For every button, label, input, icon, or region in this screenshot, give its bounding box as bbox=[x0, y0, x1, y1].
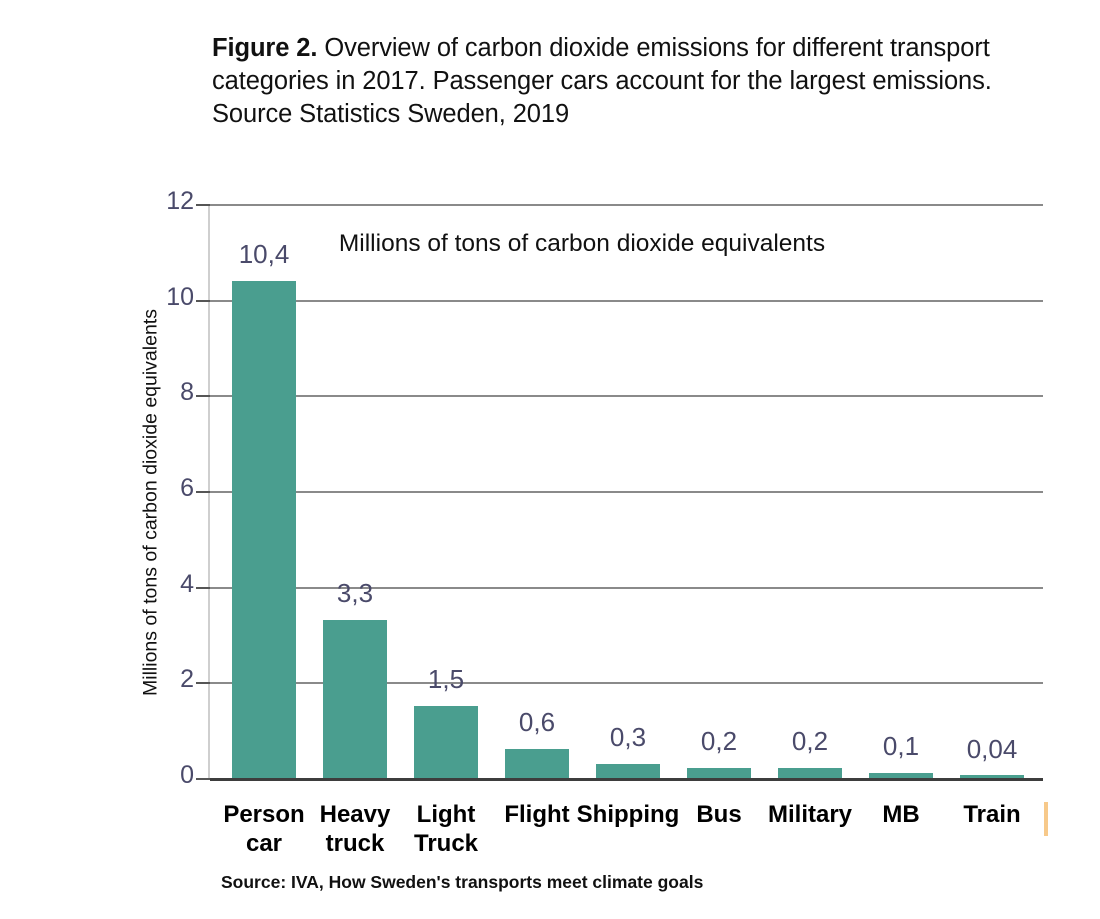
plot-area bbox=[210, 204, 1043, 778]
bar bbox=[505, 749, 569, 778]
x-category-label: Train bbox=[937, 800, 1047, 829]
bar bbox=[323, 620, 387, 778]
y-tick-label: 12 bbox=[134, 187, 194, 216]
category-label-line: Train bbox=[937, 800, 1047, 829]
axis-baseline bbox=[210, 778, 1043, 781]
gridline bbox=[210, 491, 1043, 493]
category-label-line: Truck bbox=[391, 829, 501, 858]
y-tick-label: 10 bbox=[134, 283, 194, 312]
y-tick-label: 2 bbox=[134, 665, 194, 694]
y-tick-mark bbox=[196, 204, 210, 206]
bar bbox=[232, 281, 296, 778]
bar-value-label: 3,3 bbox=[300, 578, 410, 609]
bar bbox=[687, 768, 751, 778]
y-tick-label: 8 bbox=[134, 378, 194, 407]
source-note: Source: IVA, How Sweden's transports mee… bbox=[221, 872, 703, 893]
gridline bbox=[210, 204, 1043, 206]
y-tick-mark bbox=[196, 395, 210, 397]
bar bbox=[778, 768, 842, 778]
bar-value-label: 0,04 bbox=[937, 734, 1047, 765]
y-tick-label: 4 bbox=[134, 570, 194, 599]
bar bbox=[596, 764, 660, 778]
bar-chart: Millions of tons of carbon dioxide equiv… bbox=[0, 0, 1100, 919]
y-tick-mark bbox=[196, 587, 210, 589]
y-tick-label: 0 bbox=[134, 761, 194, 790]
chart-subtitle: Millions of tons of carbon dioxide equiv… bbox=[232, 230, 932, 258]
bar bbox=[960, 775, 1024, 778]
y-tick-label: 6 bbox=[134, 474, 194, 503]
bar-value-label: 1,5 bbox=[391, 664, 501, 695]
bar bbox=[414, 706, 478, 778]
y-tick-mark bbox=[196, 491, 210, 493]
bar bbox=[869, 773, 933, 778]
bar-value-label: 10,4 bbox=[209, 239, 319, 270]
y-tick-mark bbox=[196, 682, 210, 684]
y-tick-mark bbox=[196, 300, 210, 302]
gridline bbox=[210, 300, 1043, 302]
gridline bbox=[210, 395, 1043, 397]
y-tick-mark bbox=[196, 778, 210, 780]
